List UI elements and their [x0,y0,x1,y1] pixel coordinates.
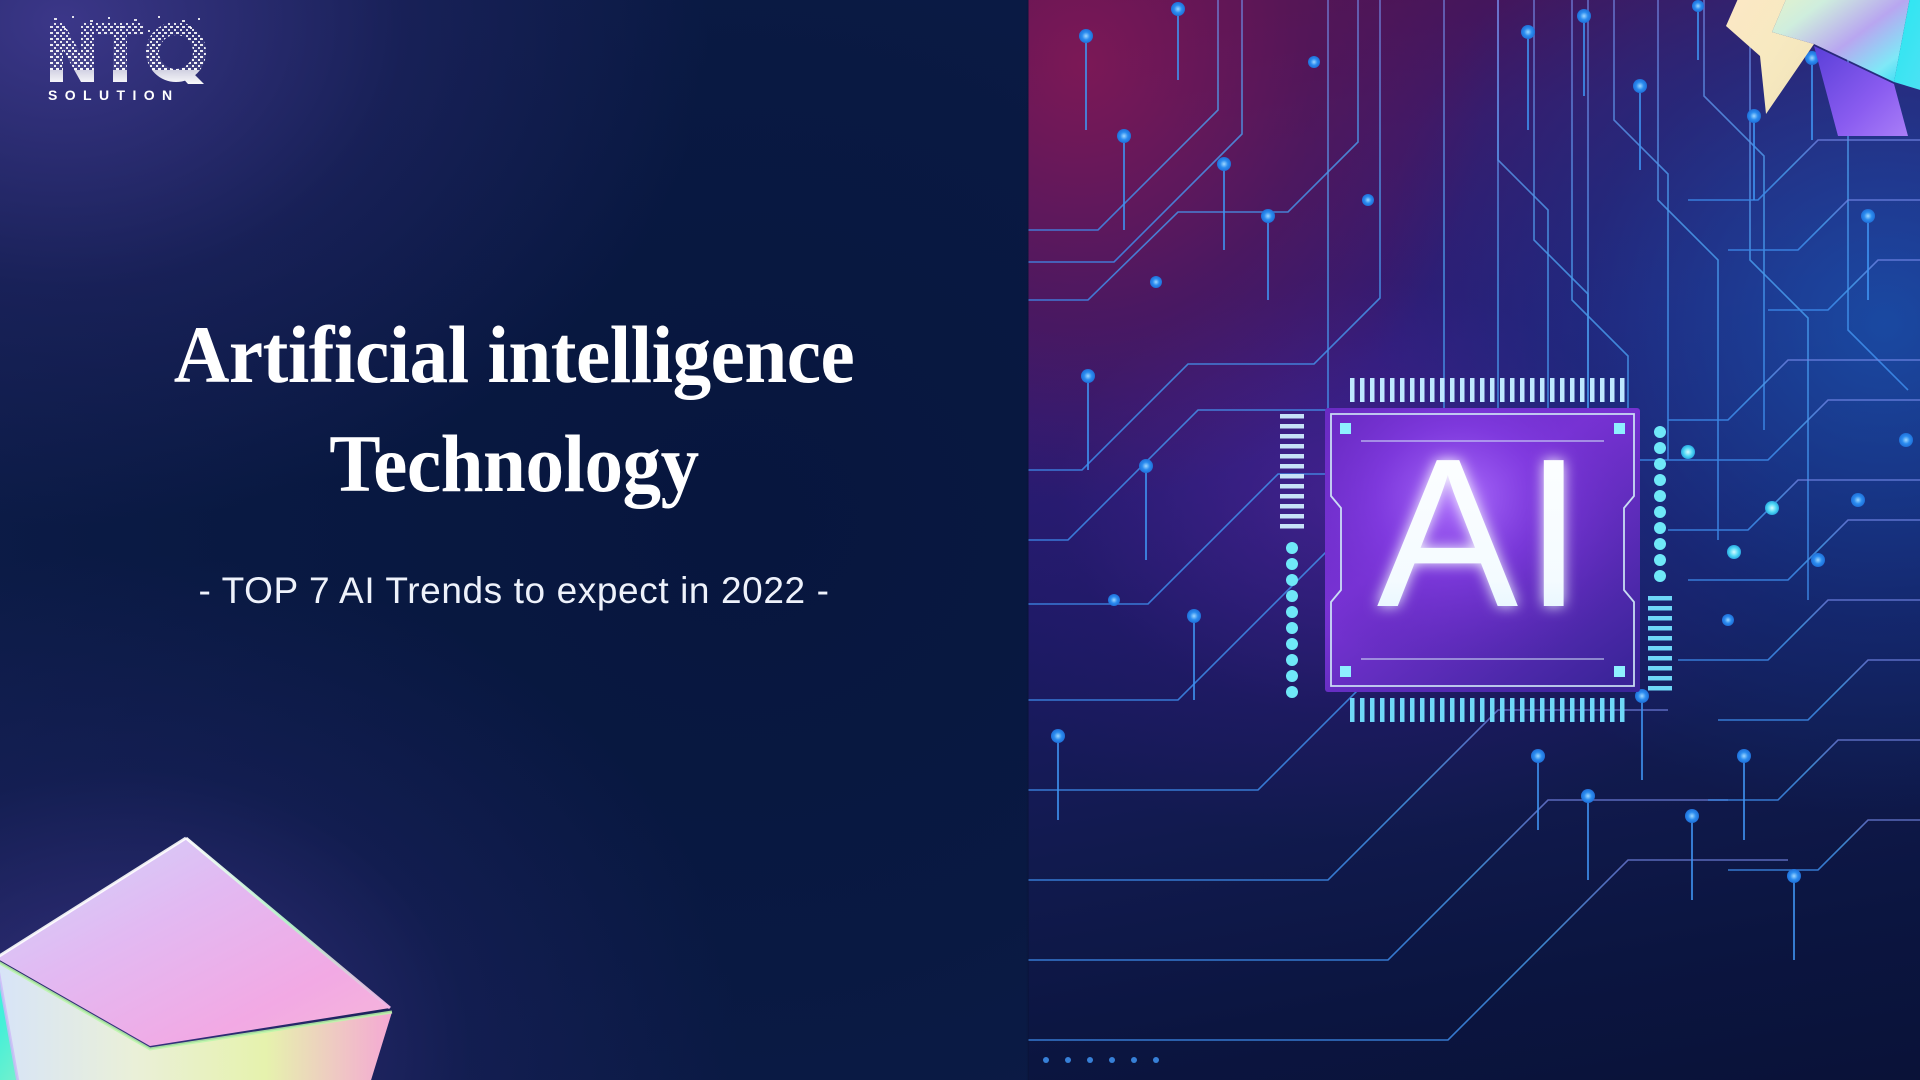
ai-processor-chip: AI [1028,0,1920,1080]
ai-graphic-panel: AI [1028,0,1920,1080]
ntq-solution-logo[interactable]: SOLUTION [38,14,214,106]
iridescent-shard-top-right [1718,0,1920,136]
iridescent-polyhedron-bottom-left [0,806,410,1080]
logo-solution-text: SOLUTION [48,87,180,103]
left-content-panel: SOLUTION Artificial intelligence Technol… [0,0,1028,1080]
page-subtitle: - TOP 7 AI Trends to expect in 2022 - [40,570,988,612]
page-title-line-1: Artificial intelligence [68,300,959,409]
headline-block: Artificial intelligence Technology - TOP… [0,300,1028,612]
presentation-slide: SOLUTION Artificial intelligence Technol… [0,0,1920,1080]
chip-ai-label: AI [1377,414,1589,651]
page-title-line-2: Technology [68,409,959,518]
panel-divider [1026,0,1029,1080]
